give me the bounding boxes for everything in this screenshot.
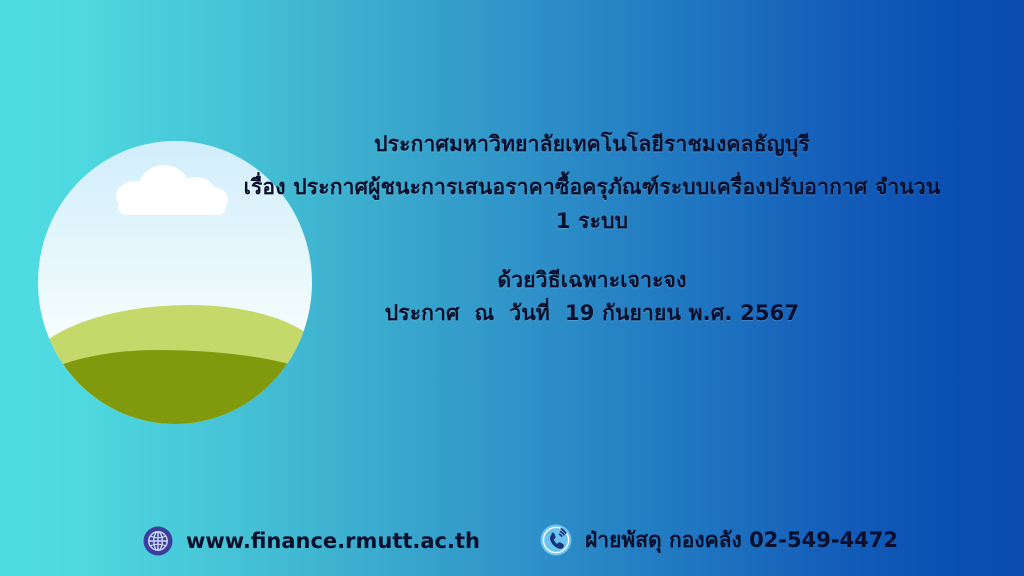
announcement-date: ประกาศ ณ วันที่ 19 กันยายน พ.ศ. 2567 — [182, 297, 1002, 330]
announcement-text-block: ประกาศมหาวิทยาลัยเทคโนโลยีราชมงคลธัญบุรี… — [182, 128, 1002, 330]
announcement-subject-line-1: เรื่อง ประกาศผู้ชนะการเสนอราคาซื้อครุภัณ… — [182, 170, 1002, 204]
globe-icon — [143, 526, 173, 556]
announcement-slide: ประกาศมหาวิทยาลัยเทคโนโลยีราชมงคลธัญบุรี… — [0, 0, 1024, 576]
announcement-title: ประกาศมหาวิทยาลัยเทคโนโลยีราชมงคลธัญบุรี — [182, 128, 1002, 161]
announcement-spacer — [182, 238, 1002, 264]
footer-contact-bar: www.finance.rmutt.ac.th ฝ่ายพัสดุ กองคลั… — [0, 521, 1024, 576]
announcement-method: ด้วยวิธีเฉพาะเจาะจง — [182, 264, 1002, 297]
footer-telephone[interactable]: ฝ่ายพัสดุ กองคลัง 02-549-4472 — [540, 524, 898, 556]
footer-website-label: www.finance.rmutt.ac.th — [186, 531, 480, 552]
announcement-subject-line-2: 1 ระบบ — [182, 204, 1002, 238]
footer-telephone-label: ฝ่ายพัสดุ กองคลัง 02-549-4472 — [585, 530, 898, 551]
phone-ringing-icon — [540, 524, 572, 556]
hill-front-shape — [38, 350, 312, 424]
footer-website[interactable]: www.finance.rmutt.ac.th — [143, 526, 480, 556]
